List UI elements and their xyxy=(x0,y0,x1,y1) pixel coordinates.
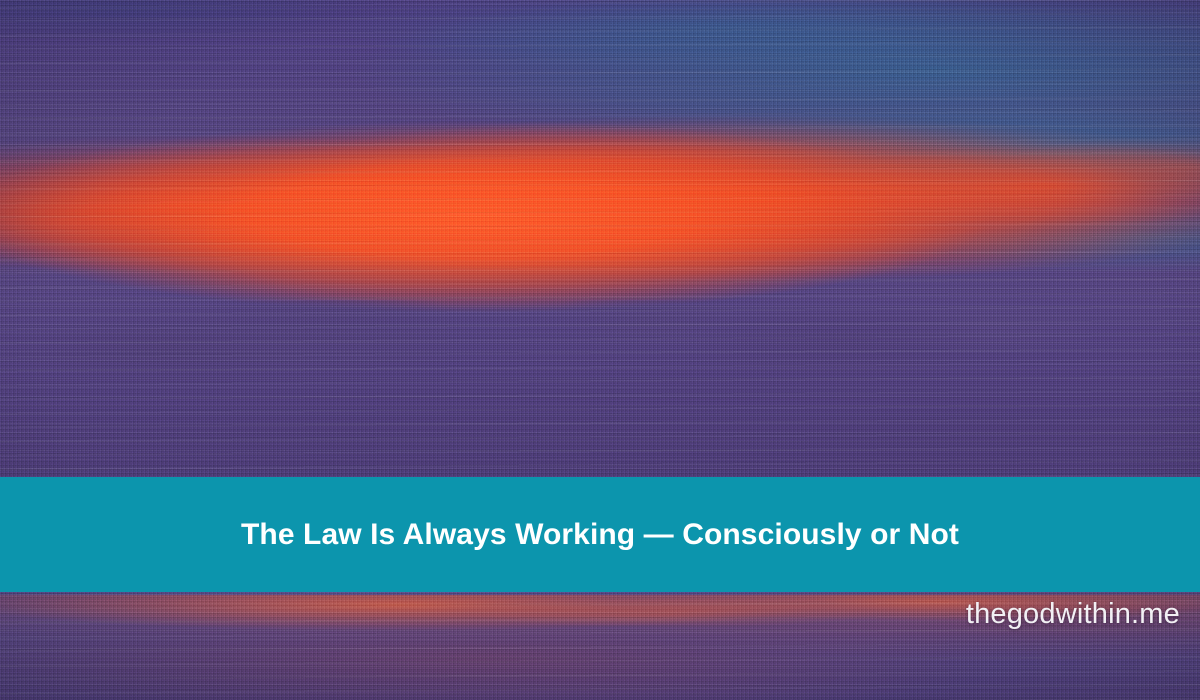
page-title: The Law Is Always Working — Consciously … xyxy=(0,517,1200,553)
title-banner: The Law Is Always Working — Consciously … xyxy=(0,477,1200,592)
site-domain-label: thegodwithin.me xyxy=(966,596,1180,632)
vignette-overlay xyxy=(0,0,1200,700)
featured-image-card: The Law Is Always Working — Consciously … xyxy=(0,0,1200,700)
